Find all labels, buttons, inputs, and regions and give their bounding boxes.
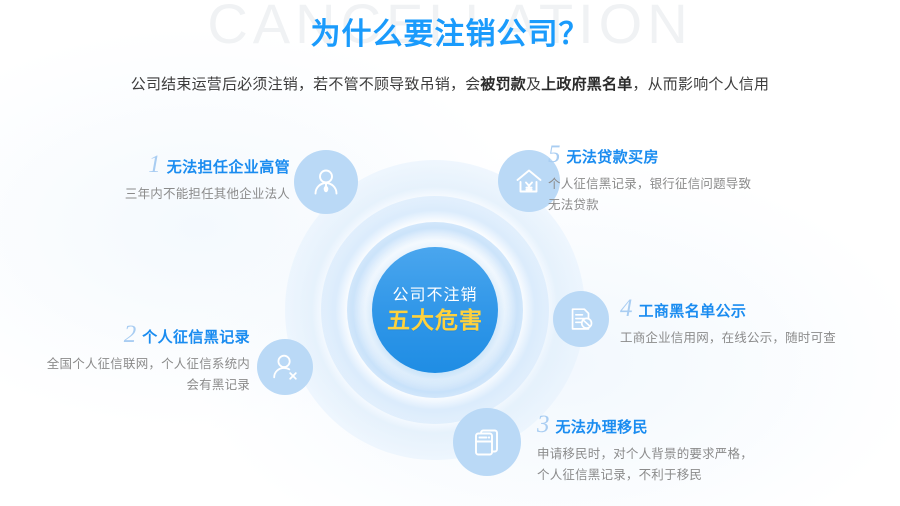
- hazard-item-2-heading: 2 个人征信黑记录: [10, 322, 250, 347]
- subtitle-segment-2: 及: [526, 76, 541, 93]
- hazard-item-3-title: 无法办理移民: [556, 420, 648, 437]
- hub-subheadline: 五大危害: [387, 307, 483, 333]
- subtitle-bold-blacklist: 上政府黑名单: [541, 76, 632, 93]
- hub-headline: 公司不注销: [392, 287, 477, 305]
- passport-icon: [453, 408, 521, 476]
- hazard-item-2-title: 个人征信黑记录: [142, 330, 250, 347]
- center-hub: 公司不注销 五大危害: [372, 247, 498, 373]
- hazard-item-1-text: 1 无法担任企业高管 三年内不能担任其他企业法人: [90, 152, 290, 205]
- hazard-item-2-desc-line-2: 会有黑记录: [10, 375, 250, 396]
- hazard-item-4-heading: 4 工商黑名单公示: [620, 296, 890, 321]
- hazard-item-3-desc-line-1: 申请移民时，对个人背景的要求严格，: [537, 444, 837, 465]
- hazard-item-5-number: 5: [548, 142, 561, 167]
- hazard-item-1-desc-line-1: 三年内不能担任其他企业法人: [90, 184, 290, 205]
- user-blocked-icon: [257, 339, 313, 395]
- hazard-item-3-text: 3 无法办理移民 申请移民时，对个人背景的要求严格， 个人征信黑记录，不利于移民: [537, 412, 837, 485]
- hazard-item-2-text: 2 个人征信黑记录 全国个人征信联网，个人征信系统内 会有黑记录: [10, 322, 250, 395]
- hazard-item-4-title: 工商黑名单公示: [639, 304, 747, 321]
- hazard-item-3-description: 申请移民时，对个人背景的要求严格， 个人征信黑记录，不利于移民: [537, 444, 837, 485]
- hazard-item-4-description: 工商企业信用网，在线公示，随时可查: [620, 328, 890, 349]
- hazard-item-1-title: 无法担任企业高管: [167, 160, 290, 177]
- infographic-canvas: CANCELLATION 为什么要注销公司？ 公司结束运营后必须注销，若不管不顾…: [0, 0, 900, 506]
- hazard-item-1-description: 三年内不能担任其他企业法人: [90, 184, 290, 205]
- hazard-item-2-number: 2: [124, 322, 137, 347]
- page-title: 为什么要注销公司？: [0, 18, 900, 53]
- hazard-item-3-heading: 3 无法办理移民: [537, 412, 837, 437]
- hazard-item-4-number: 4: [620, 296, 633, 321]
- subtitle-bold-fine: 被罚款: [480, 76, 526, 93]
- page-subtitle: 公司结束运营后必须注销，若不管不顾导致吊销，会被罚款及上政府黑名单，从而影响个人…: [0, 74, 900, 95]
- hazard-item-2-description: 全国个人征信联网，个人征信系统内 会有黑记录: [10, 354, 250, 395]
- hazard-item-4-text: 4 工商黑名单公示 工商企业信用网，在线公示，随时可查: [620, 296, 890, 349]
- hazard-item-5-desc-line-2: 无法贷款: [548, 195, 848, 216]
- hazard-item-4-desc-line-1: 工商企业信用网，在线公示，随时可查: [620, 328, 890, 349]
- hazard-item-5-heading: 5 无法贷款买房: [548, 142, 848, 167]
- hazard-item-5-desc-line-1: 个人征信黑记录，银行征信问题导致: [548, 174, 848, 195]
- hazard-item-1-number: 1: [148, 152, 161, 177]
- hazard-item-5-title: 无法贷款买房: [567, 150, 659, 167]
- hazard-item-3-desc-line-2: 个人征信黑记录，不利于移民: [537, 465, 837, 486]
- subtitle-segment-3: ，从而影响个人信用: [632, 76, 769, 93]
- hazard-item-5-text: 5 无法贷款买房 个人征信黑记录，银行征信问题导致 无法贷款: [548, 142, 848, 215]
- hazard-item-5-description: 个人征信黑记录，银行征信问题导致 无法贷款: [548, 174, 848, 215]
- hazard-item-3-number: 3: [537, 412, 550, 437]
- user-executive-icon: [294, 150, 358, 214]
- subtitle-segment-1: 公司结束运营后必须注销，若不管不顾导致吊销，会: [131, 76, 481, 93]
- hazard-item-2-desc-line-1: 全国个人征信联网，个人征信系统内: [10, 354, 250, 375]
- hazard-item-1-heading: 1 无法担任企业高管: [90, 152, 290, 177]
- document-banned-icon: [553, 291, 609, 347]
